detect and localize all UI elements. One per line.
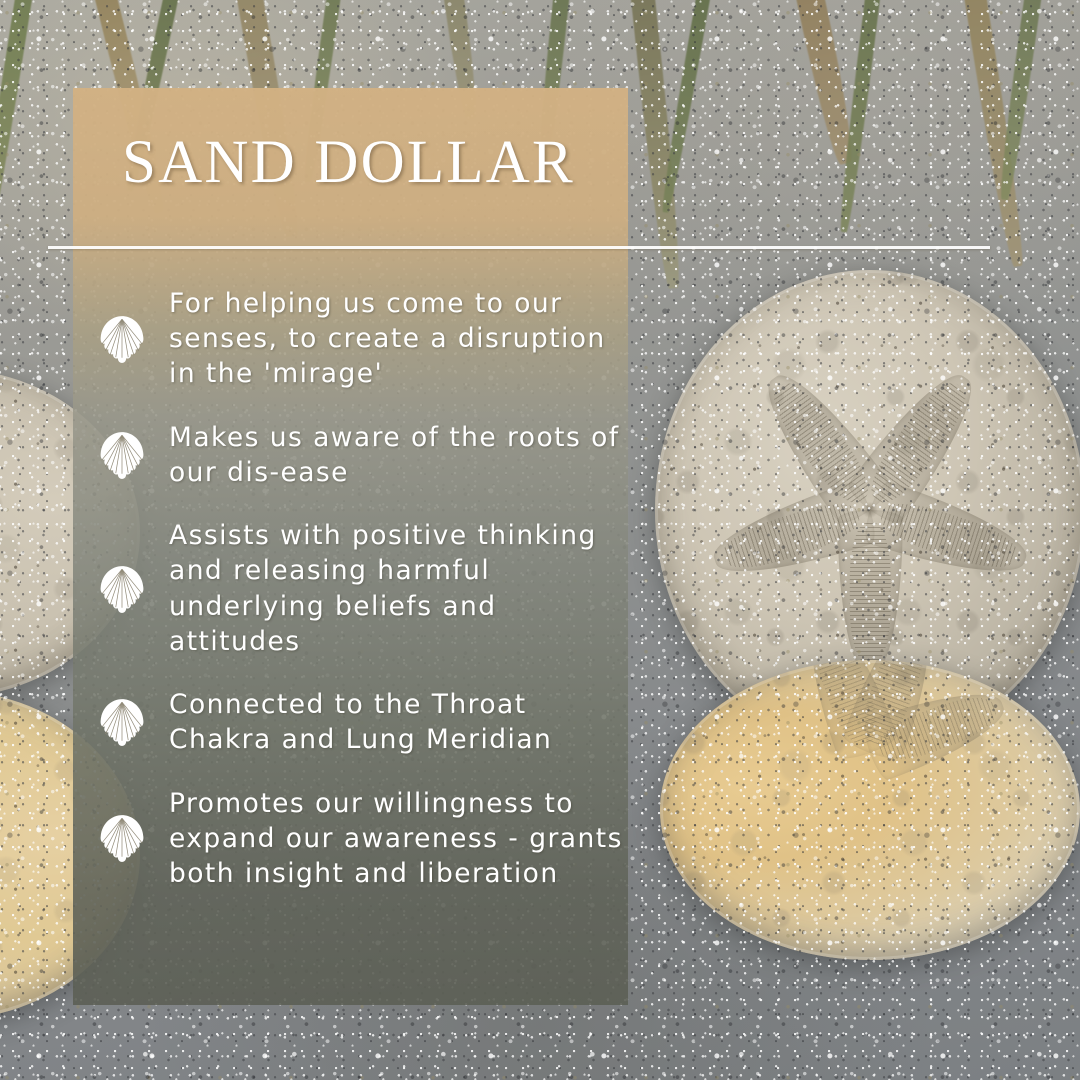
scallop-shell-icon	[96, 696, 148, 748]
list-item-label: Assists with positive thinking and relea…	[169, 518, 624, 659]
page-title: SAND DOLLAR	[122, 128, 575, 198]
title-divider	[48, 246, 990, 249]
list-item: Assists with positive thinking and relea…	[73, 518, 628, 659]
sand-dollar-golden-tan	[660, 660, 1080, 960]
seagrass-strand	[658, 0, 713, 214]
list-item-label: Makes us aware of the roots of our dis-e…	[169, 420, 624, 490]
list-item: Promotes our willingness to expand our a…	[73, 786, 628, 892]
seagrass-strand	[996, 0, 1045, 201]
list-item: For helping us come to our senses, to cr…	[73, 286, 628, 392]
list-item-label: Promotes our willingness to expand our a…	[169, 786, 624, 892]
scallop-shell-icon	[96, 812, 148, 864]
scallop-shell-icon	[96, 563, 148, 615]
seagrass-strand	[0, 0, 35, 278]
list-item: Connected to the Throat Chakra and Lung …	[73, 687, 628, 757]
scallop-shell-icon	[96, 429, 148, 481]
bullet-list: For helping us come to our senses, to cr…	[73, 286, 628, 891]
info-panel: SAND DOLLAR	[73, 88, 628, 1005]
image-canvas: SAND DOLLAR	[0, 0, 1080, 1080]
list-item-label: For helping us come to our senses, to cr…	[169, 286, 624, 392]
list-item-label: Connected to the Throat Chakra and Lung …	[169, 687, 624, 757]
list-item: Makes us aware of the roots of our dis-e…	[73, 420, 628, 490]
scallop-shell-icon	[96, 313, 148, 365]
